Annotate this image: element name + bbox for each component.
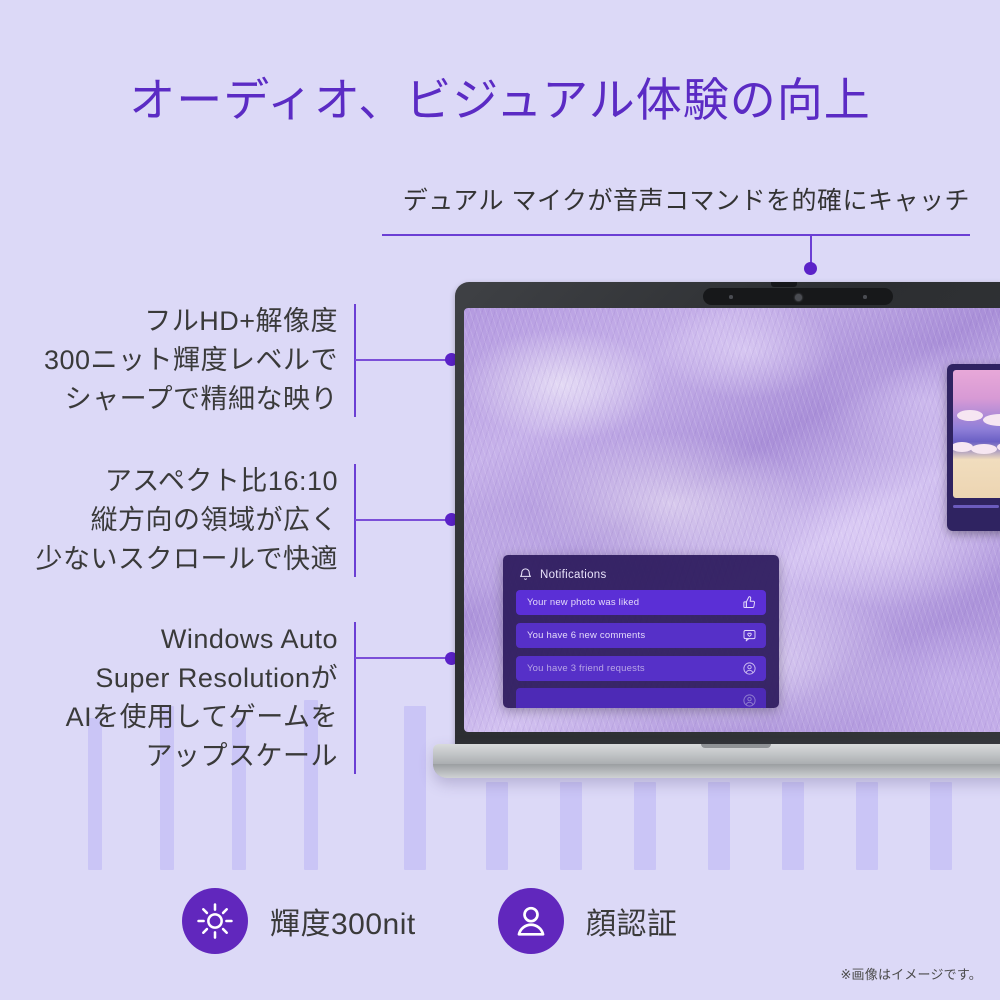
feature-face-recognition-label: 顔認証 [586,899,678,943]
notifications-header: Notifications [503,555,779,582]
feature-brightness: 輝度300nit [182,888,416,954]
cloud-shape [953,442,973,452]
notification-item[interactable] [516,688,766,708]
footnote: ※画像はイメージです。 [840,964,982,983]
page-title: オーディオ、ビジュアル体験の向上 [0,64,1000,130]
laptop-product-image: Notifications Your new photo was liked Y… [455,282,1000,782]
mic-left-icon [729,295,733,299]
callout-line: 少ないスクロールで快適 [36,540,339,579]
callout-display-resolution-bracket [354,304,356,417]
lid-notch [771,282,797,287]
callout-aspect-ratio-bracket [354,464,356,577]
callout-line: Windows Auto [66,620,338,659]
cloud-shape [957,410,983,421]
notification-item[interactable]: You have 3 friend requests [516,656,766,681]
notification-label: Your new photo was liked [527,597,639,608]
laptop-base-front-edge [433,764,1000,778]
background-stripe [708,782,730,870]
mini-window-progress-bar [953,505,999,508]
notifications-title: Notifications [540,569,607,581]
callout-auto-super-resolution-line [355,657,451,659]
notification-item[interactable]: Your new photo was liked [516,590,766,615]
callout-line: 300ニット輝度レベルで [44,341,338,380]
laptop-screen: Notifications Your new photo was liked Y… [464,308,1000,732]
background-stripe [560,782,582,870]
callout-line: 縦方向の領域が広く [36,501,339,540]
camera-lens-icon [795,294,802,301]
callout-auto-super-resolution-bracket [354,622,356,774]
callout-dual-mic-horizontal-line [382,234,970,236]
brightness-sun-icon [182,888,248,954]
mic-right-icon [863,295,867,299]
feature-face-recognition: 顔認証 [498,888,678,954]
callout-display-resolution-line [355,359,451,361]
callout-dual-mic: デュアル マイクが音声コマンドを的確にキャッチ [370,186,970,216]
background-stripe [856,782,878,870]
callout-line: AIを使用してゲームを [66,698,338,737]
callout-line: シャープで精細な映り [44,380,338,419]
notifications-panel[interactable]: Notifications Your new photo was liked Y… [503,555,779,708]
desktop-mini-window[interactable] [947,364,1000,531]
cloud-shape [983,414,1000,426]
person-circle-icon [742,693,757,708]
cloud-shape [971,444,997,454]
thumbs-up-icon [742,595,757,610]
comment-heart-icon [742,628,757,643]
background-stripe [782,782,804,870]
notification-label: You have 3 friend requests [527,663,645,674]
callout-line: フルHD+解像度 [44,302,338,341]
callout-line: アップスケール [66,737,338,776]
callout-aspect-ratio-line [355,519,451,521]
background-stripe [486,782,508,870]
callout-aspect-ratio-text: アスペクト比16:10縦方向の領域が広く少ないスクロールで快適 [36,462,339,579]
background-stripe [930,782,952,870]
bell-icon [518,567,533,582]
callout-line: Super Resolutionが [66,659,338,698]
feature-brightness-label: 輝度300nit [270,899,416,943]
laptop-base-notch [701,744,771,748]
webcam-bar [703,288,893,305]
laptop-base [433,744,1000,778]
background-stripe [404,706,426,870]
background-stripe [634,782,656,870]
callout-dual-mic-dot [804,262,817,275]
laptop-lid: Notifications Your new photo was liked Y… [455,282,1000,750]
callout-dual-mic-text: デュアル マイクが音声コマンドを的確にキャッチ [370,186,970,216]
notification-label: You have 6 new comments [527,630,645,641]
callout-auto-super-resolution-text: Windows AutoSuper ResolutionがAIを使用してゲームを… [66,620,338,776]
person-circle-icon [742,661,757,676]
mini-window-artwork [953,370,1000,498]
notification-item[interactable]: You have 6 new comments [516,623,766,648]
callout-display-resolution-text: フルHD+解像度300ニット輝度レベルでシャープで精細な映り [44,302,338,419]
face-person-icon [498,888,564,954]
callout-line: アスペクト比16:10 [36,462,339,501]
